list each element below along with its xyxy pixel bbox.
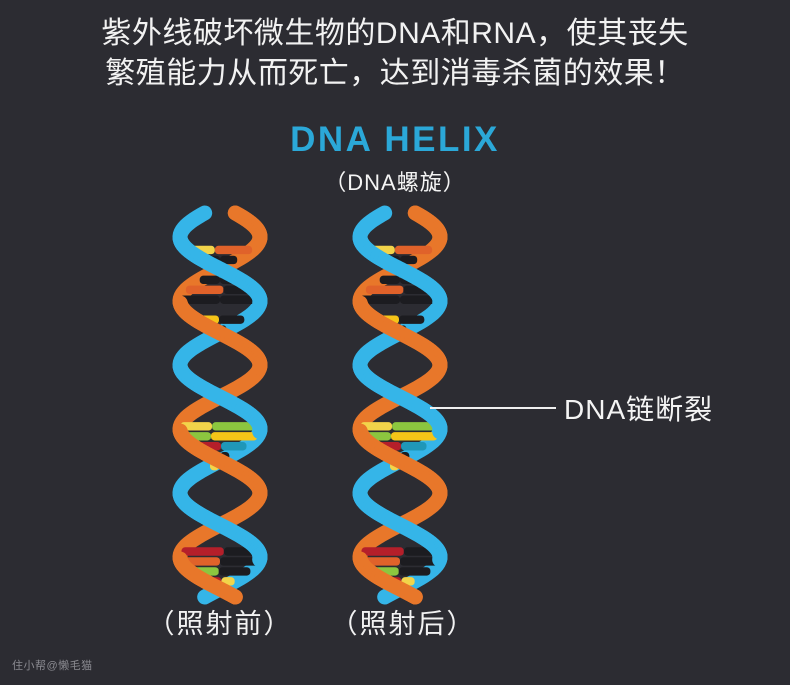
strand-front-seg-orange-before (232, 595, 236, 597)
rung-segment-right-9 (391, 432, 437, 440)
rung-segment-left-13 (181, 547, 223, 555)
rung-segment-right-10 (221, 442, 246, 450)
strand-front-seg-orange-after (412, 595, 416, 597)
poster-canvas: 紫外线破坏微生物的DNA和RNA，使其丧失 繁殖能力从而死亡，达到消毒杀菌的效果… (0, 0, 790, 685)
caption-after: （照射后） (288, 602, 518, 641)
break-callout: DNA链断裂 (430, 385, 713, 431)
rung-segment-right-6 (399, 315, 424, 323)
headline-line-1: 紫外线破坏微生物的DNA和RNA，使其丧失 (0, 14, 790, 54)
rung-segment-right-15 (399, 567, 431, 575)
headline-line-2: 繁殖能力从而死亡，达到消毒杀菌的效果！ (0, 54, 790, 94)
rung-segment-left-13 (361, 547, 403, 555)
page-subtitle: （DNA螺旋） (0, 165, 790, 197)
rung-segment-left-4 (186, 286, 224, 294)
rung-segment-right-0 (215, 246, 252, 254)
headline-text: 紫外线破坏微生物的DNA和RNA，使其丧失 繁殖能力从而死亡，达到消毒杀菌的效果… (0, 14, 790, 94)
callout-label: DNA链断裂 (564, 388, 713, 428)
callout-leader-line (430, 407, 556, 409)
helix-svg-before (145, 205, 295, 605)
rung-segment-left-4 (366, 286, 404, 294)
rung-segment-left-3 (380, 276, 400, 284)
watermark: 住小帮@懒毛猫 (12, 657, 93, 673)
rung-segment-right-9 (211, 432, 257, 440)
dna-helix-before (145, 205, 295, 605)
rung-segment-left-3 (200, 276, 220, 284)
rung-segment-right-15 (219, 567, 251, 575)
rung-segment-right-6 (219, 315, 244, 323)
rung-segment-right-10 (401, 442, 426, 450)
page-title: DNA HELIX (0, 120, 790, 160)
rung-segment-right-0 (395, 246, 432, 254)
